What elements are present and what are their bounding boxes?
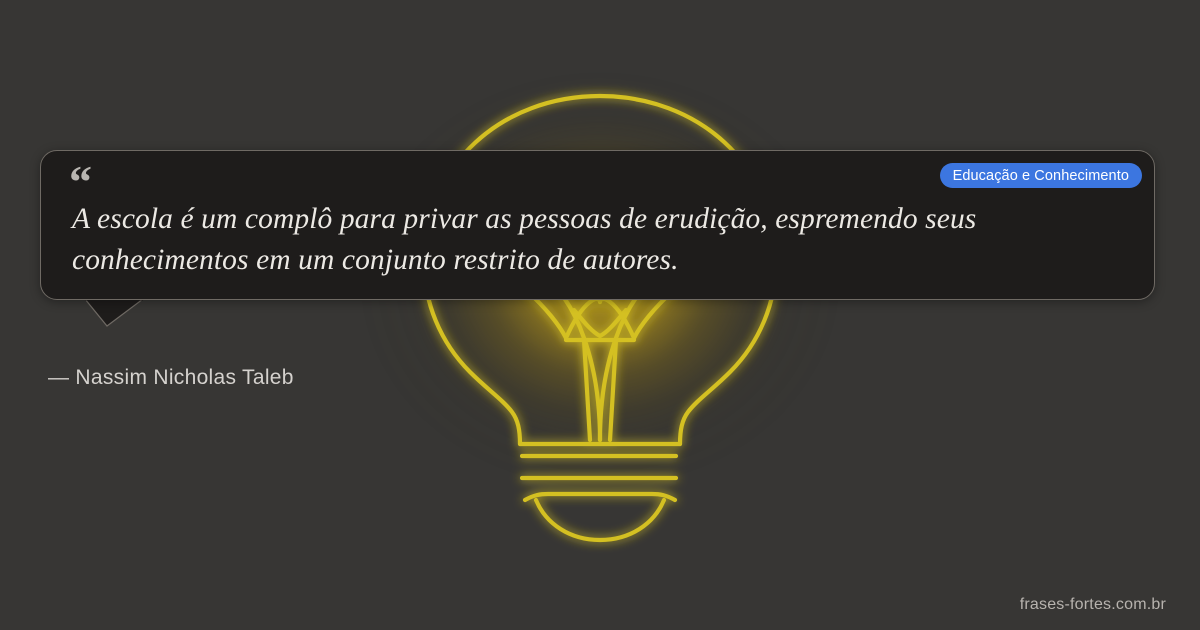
speech-bubble-tail <box>85 299 145 329</box>
quote-card-canvas: “ Educação e Conhecimento A escola é um … <box>0 0 1200 630</box>
quote-text: A escola é um complô para privar as pess… <box>72 199 1110 281</box>
quote-author: — Nassim Nicholas Taleb <box>48 366 294 390</box>
site-url-watermark: frases-fortes.com.br <box>1020 596 1166 614</box>
lightbulb-outline-icon <box>0 0 1200 630</box>
lightbulb-illustration <box>0 0 1200 630</box>
category-badge[interactable]: Educação e Conhecimento <box>940 163 1142 188</box>
quote-card: “ Educação e Conhecimento A escola é um … <box>40 150 1155 300</box>
